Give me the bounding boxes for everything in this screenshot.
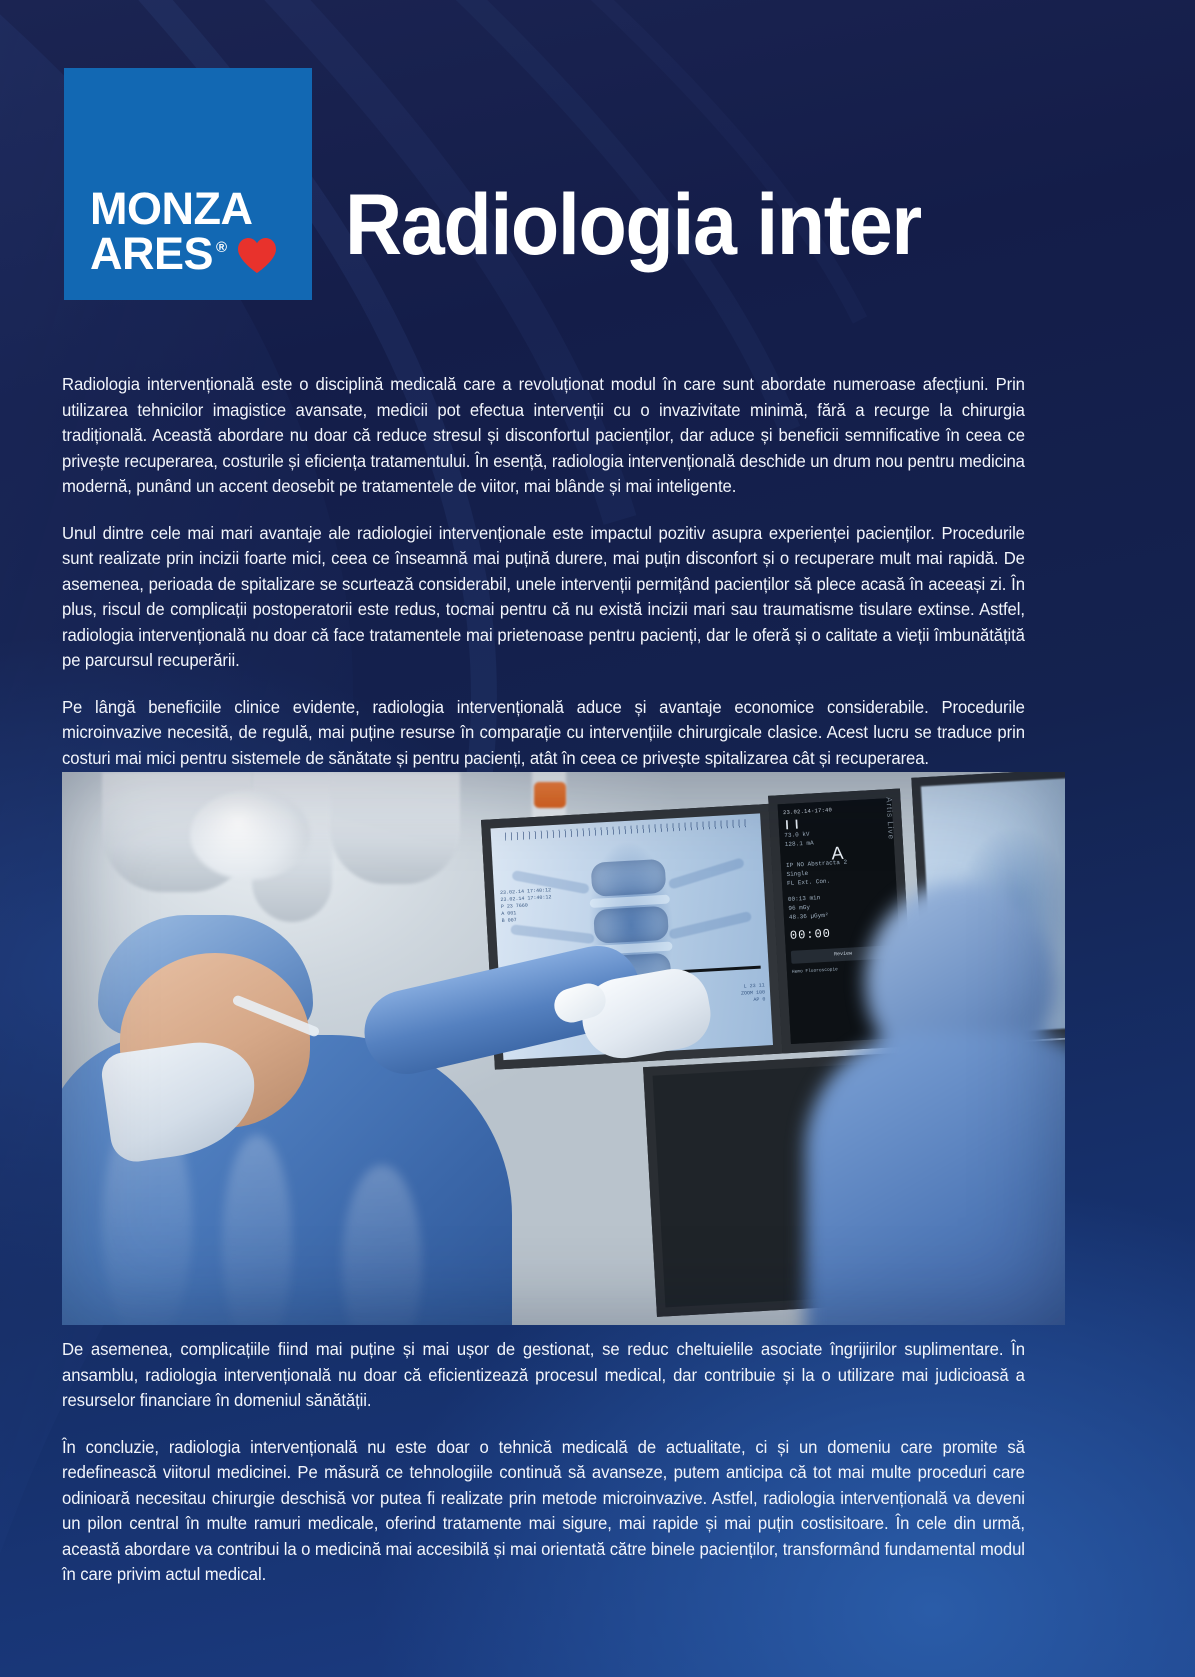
article-body-top: Radiologia intervențională este o discip… <box>62 372 1065 771</box>
paragraph: În concluzie, radiologia intervențională… <box>62 1435 1025 1588</box>
background-person-body <box>805 1032 1065 1325</box>
poster-header: MONZA ARES ® Radiologia inter <box>0 0 1195 345</box>
heart-icon <box>236 236 278 274</box>
vertebra <box>591 859 667 897</box>
paragraph: Pe lângă beneficiile clinice evidente, r… <box>62 695 1025 772</box>
article-photo: 23.02.14 17:40:12 23.02.14 17:40:12 P 23… <box>62 772 1065 1325</box>
brand-logo: MONZA ARES ® <box>64 68 312 300</box>
rib <box>510 924 595 944</box>
paragraph: Unul dintre cele mai mari avantaje ale r… <box>62 521 1025 674</box>
rib <box>668 911 752 940</box>
photo-scene: 23.02.14 17:40:12 23.02.14 17:40:12 P 23… <box>62 772 1065 1325</box>
brand-logo-line2: ARES <box>90 231 213 276</box>
poster-page: MONZA ARES ® Radiologia inter Radiologia… <box>0 0 1195 1677</box>
vertebra-gap <box>590 895 670 908</box>
article-body-bottom: De asemenea, complicațiile fiind mai puț… <box>62 1337 1065 1588</box>
ceiling-arm-3 <box>330 772 460 884</box>
monitor-timestamp: 23.02.14-17:40 <box>783 802 887 817</box>
registered-mark: ® <box>216 239 227 256</box>
page-title: Radiologia inter <box>345 182 921 268</box>
surgeon-figure <box>62 895 522 1325</box>
paragraph: De asemenea, complicațiile fiind mai puț… <box>62 1337 1025 1414</box>
brand-logo-line1: MONZA <box>90 187 312 231</box>
xray-overlay-text-right: L 23 11 ZOOM 100 AP 0 <box>741 982 766 1004</box>
rib <box>668 857 745 890</box>
background-person <box>805 882 1065 1325</box>
brand-logo-line2-row: ARES ® <box>90 231 312 276</box>
paragraph: Radiologia intervențională este o discip… <box>62 372 1025 500</box>
vertebra <box>593 906 669 944</box>
xray-scale-ticks <box>505 819 747 840</box>
or-light <box>190 790 310 880</box>
